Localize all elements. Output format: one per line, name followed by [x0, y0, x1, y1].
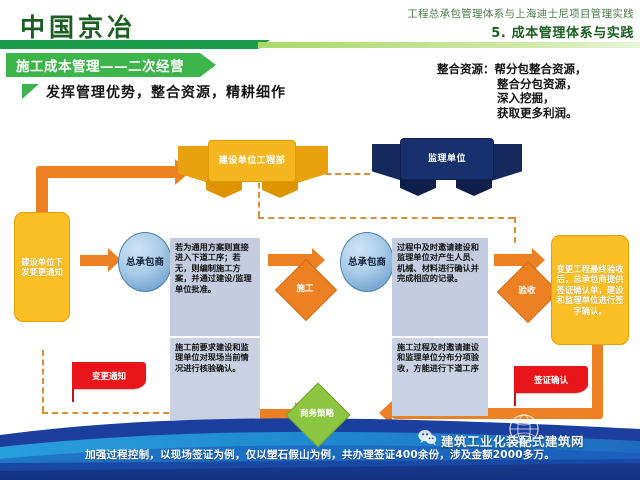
diamond-business-strategy: 商务策略 [295, 392, 339, 436]
circle-general-contractor-2: 总承包商 [340, 232, 394, 292]
circle-general-contractor-1: 总承包商 [118, 232, 172, 292]
flag-signoff-confirm: 签证确认 [508, 366, 592, 408]
diamond-label-acceptance: 验收 [506, 270, 548, 312]
resource-integration-note: 整合资源：帮分包整合资源， 整合分包资源， 深入挖掘， 获取更多利润。 [437, 62, 637, 120]
process-flow-diagram: 建设单位工程部 监理单位 建设单位下发变更通知 总承包商 若为通用方案则直接进入… [0, 128, 640, 438]
dashed-connector-left-v [42, 350, 44, 412]
ribbon-tail-right [294, 146, 328, 184]
section-banner-label: 施工成本管理——二次经营 [16, 55, 184, 75]
pipe-top-horizontal [36, 166, 176, 178]
textbox-scheme-approval: 若为通用方案则直接进入下道工序；若无，则编制施工方案，并通过建设/监理单位批准。 [170, 238, 260, 336]
ribbon-label-construction-unit: 建设单位工程部 [208, 140, 296, 182]
section-banner: 施工成本管理——二次经营 [6, 53, 200, 77]
ribbon-notch-right [456, 178, 492, 196]
textbox-process-confirmation: 过程中及时邀请建设和监理单位对产生人员、机械、材料进行确认并完成相应的记录。 [392, 238, 488, 336]
flag-label-signoff-confirm: 签证确认 [514, 366, 588, 393]
brand-logo: 中国京冶 [20, 8, 136, 44]
globe-icon [504, 413, 544, 454]
diamond-acceptance: 验收 [506, 270, 548, 312]
dashed-connector-mid [258, 217, 438, 219]
flag-label-change-notice: 变更通知 [72, 362, 146, 389]
header-bar-gradient [258, 42, 640, 48]
textbox-acceptance-process: 施工过程及时邀请建设和监理单位分布分项验收，方能进行下道工序 [392, 338, 488, 416]
flag-change-notice: 变更通知 [66, 362, 150, 404]
section-bullet-text: 发挥管理优势，整合资源，精耕细作 [46, 82, 286, 102]
ribbon-tail-left [178, 146, 212, 184]
dashed-connector-v2 [514, 217, 516, 243]
note-line-3: 深入挖掘， [437, 91, 637, 106]
ribbon-supervision-unit: 监理单位 [372, 138, 522, 196]
header-section-title: 5. 成本管理体系与实践 [334, 22, 634, 41]
watermark: 建筑工业化装配式建筑网 [418, 429, 584, 451]
dashed-connector-mid2 [438, 217, 514, 219]
box-final-acceptance-signoff: 变更工程最终验收后，总承包商提供签证确认单，建设和监理单位进行签字确认。 [551, 235, 629, 345]
ribbon-notch-left [206, 180, 242, 198]
note-line-1: 整合资源：帮分包整合资源， [437, 62, 637, 77]
diamond-label-construction: 施工 [284, 268, 326, 310]
ribbon-notch-left [400, 178, 436, 196]
header-subtitle: 工程总承包管理体系与上海迪士尼项目管理实践 [334, 6, 634, 21]
diamond-construction: 施工 [284, 268, 326, 310]
diamond-label-business-strategy: 商务策略 [295, 392, 339, 436]
note-line-2: 整合分包资源， [437, 77, 637, 92]
header-bar-green [0, 40, 258, 49]
note-line-4: 获取更多利润。 [437, 106, 637, 121]
ribbon-construction-unit: 建设单位工程部 [178, 140, 328, 198]
ribbon-label-supervision-unit: 监理单位 [400, 138, 494, 180]
textbox-pre-construction-check: 施工前要求建设和监理单位对现场当前情况进行核验确认。 [170, 338, 260, 420]
ribbon-notch-right [262, 180, 298, 198]
slide-root: 中国京冶 工程总承包管理体系与上海迪士尼项目管理实践 5. 成本管理体系与实践 … [0, 0, 640, 480]
bullet-triangle-icon [22, 84, 39, 99]
box-change-notice-issued: 建设单位下发变更通知 [14, 212, 70, 322]
wechat-icon [418, 429, 437, 451]
